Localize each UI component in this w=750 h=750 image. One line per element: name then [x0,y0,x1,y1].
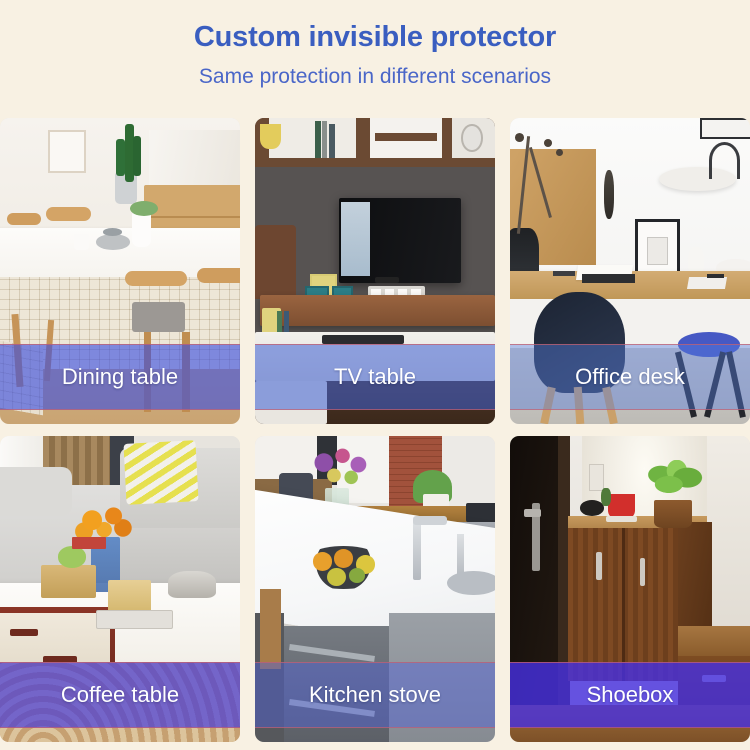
book-2 [322,121,327,158]
scenario-label: Shoebox [587,684,674,706]
stove-cooktop [466,503,495,521]
light-switch [589,464,603,492]
page-subtitle: Same protection in different scenarios [0,65,750,88]
cabinet-handle-right [640,558,646,586]
scenario-cell-shoebox[interactable]: Shoebox [510,436,750,742]
side-panel [255,225,296,298]
cabinet-handle-left [596,552,602,580]
scenario-label: Coffee table [61,684,179,706]
wall-frame-top [700,118,750,139]
sofa-backrest-left [0,467,72,516]
low-bench-shelf [678,626,750,657]
chair-back-right [125,271,187,286]
red-item-saucer [606,516,637,522]
drawer-line-1 [144,216,240,218]
red-book [72,537,106,549]
header: Custom invisible protector Same protecti… [0,0,750,88]
silver-animal-ornament [168,571,216,599]
vase [132,213,151,247]
tv-stand-mount [375,277,399,283]
red-decor-item [608,494,634,518]
flower-bouquet [308,445,380,494]
orange-1 [313,552,332,570]
cactus-stem-right [133,136,141,176]
label-band: Shoebox [510,662,750,728]
tv-screen-glare [341,202,370,275]
artwork-inner [647,237,669,265]
plate [96,234,130,249]
terracotta-planter [654,500,692,528]
cactus-stem-left [116,139,124,176]
label-band: Coffee table [0,662,240,728]
glass-tray [96,610,173,628]
chair-back-far-right [197,268,240,283]
cabinet-niche-left [269,118,355,158]
chair-back-left-2 [46,207,92,221]
chair-cushion-right [132,302,185,333]
cabinet-divider [375,133,437,141]
small-white-vase [688,247,705,275]
page-title: Custom invisible protector [0,22,750,54]
scenario-cell-kitchen-stove[interactable]: Kitchen stove [255,436,495,742]
scenario-label: TV table [334,366,416,388]
faucet-neck [413,519,420,580]
book-3 [329,124,335,158]
chevron-cushion [123,440,198,505]
dried-bud-3 [556,149,563,156]
book-1 [315,121,321,158]
cup [74,234,88,249]
desk-lamp-arm [709,142,740,179]
label-band: Kitchen stove [255,662,495,728]
paper-tray [687,277,728,289]
hanging-ornament [604,170,615,219]
label-band: Office desk [510,344,750,410]
scenario-label: Dining table [62,366,178,388]
label-band: Dining table [0,344,240,410]
door-handle [524,509,541,517]
bowl [103,228,122,236]
green-fruit [349,568,366,583]
wooden-media-shelf [260,295,495,326]
wall-frame [48,130,86,173]
closed-notebook [582,274,635,283]
scenario-label: Kitchen stove [309,684,441,706]
sink-basin [447,571,495,595]
label-band: TV table [255,344,495,410]
scenario-cell-coffee-table[interactable]: Coffee table [0,436,240,742]
tissue-box-second [108,580,151,614]
scenario-cell-tv-table[interactable]: TV table [255,118,495,424]
faucet-spout [413,516,447,525]
scenario-cell-office-desk[interactable]: Office desk [510,118,750,424]
wall-clock [461,124,483,152]
scenario-cell-dining-table[interactable]: Dining table [0,118,240,424]
product-marketing-image: Custom invisible protector Same protecti… [0,0,750,750]
yellow-bowl [260,124,282,148]
lemon-2 [327,568,346,586]
small-succulent [601,488,611,506]
drawer-handle-1 [10,629,39,636]
scenario-label: Office desk [575,366,685,388]
pen [553,271,575,276]
dark-dish-ornament [580,500,604,515]
green-decor-item [58,546,87,567]
chair-back-left-1 [7,213,41,225]
orange-2 [334,549,353,567]
wall-right [707,436,750,632]
vase-greenery [130,201,159,216]
scenario-grid: Dining table [0,118,750,743]
wooden-stool-leg [260,589,282,669]
wooden-tissue-box [41,565,96,599]
cabinet-door-gap [622,528,626,681]
pen-2 [707,274,724,278]
